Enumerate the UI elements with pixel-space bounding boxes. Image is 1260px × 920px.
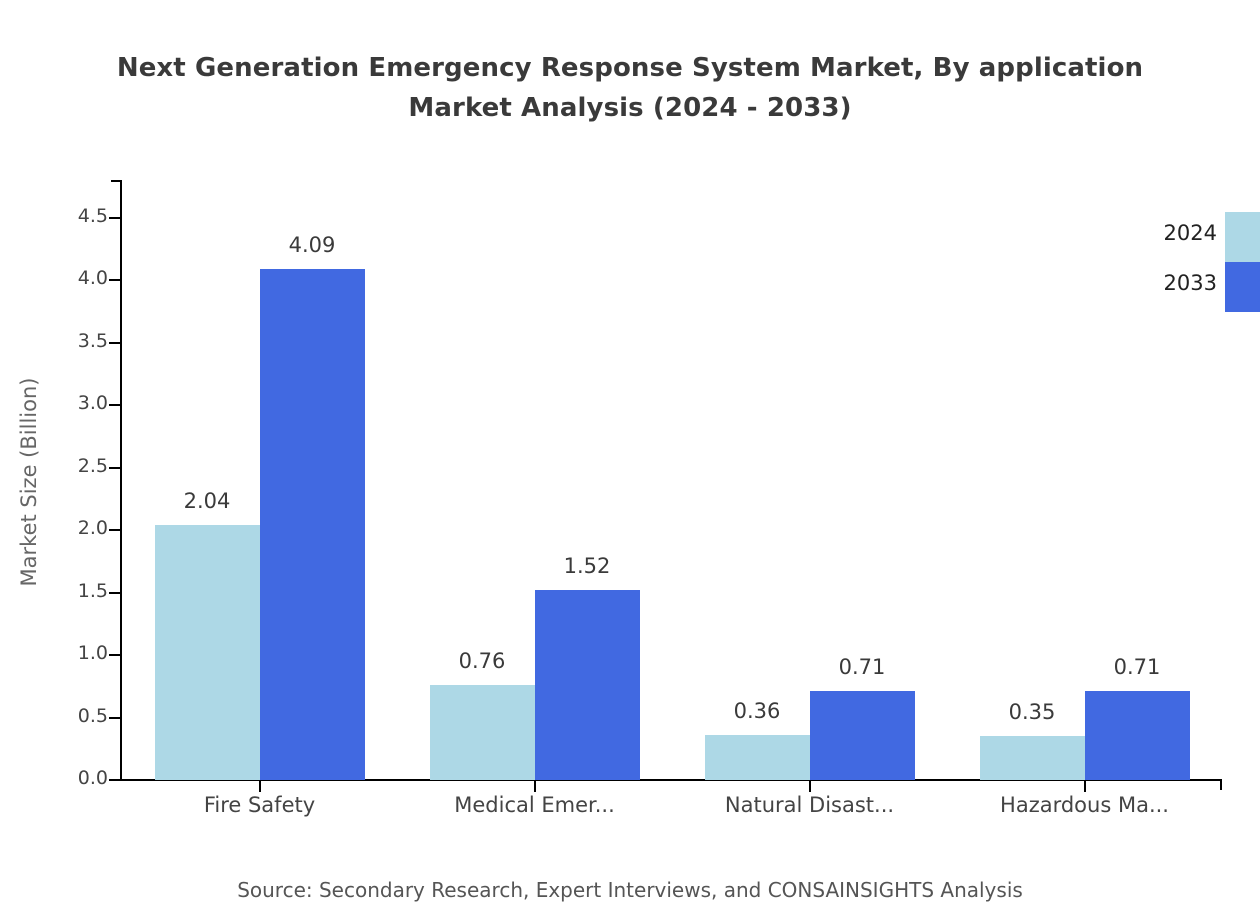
plot-area: 2.044.090.761.520.360.710.350.71 [122,180,1222,780]
y-axis-tick [109,217,120,219]
y-axis-tick [109,779,120,781]
y-axis-top-cap [111,180,122,182]
legend-swatch-2033 [1225,262,1260,312]
bar-2033-1[interactable] [260,269,365,780]
source-note: Source: Secondary Research, Expert Inter… [0,878,1260,902]
x-axis-category-label: Hazardous Ma... [965,793,1205,817]
bar-2033-3[interactable] [810,691,915,780]
y-axis-tick [109,342,120,344]
bar-value-label: 0.36 [687,699,827,723]
legend-label-2024: 2024 [1135,221,1217,245]
x-axis-category-label: Fire Safety [140,793,380,817]
chart-title-line-2: Market Analysis (2024 - 2033) [0,88,1260,128]
bar-2024-2[interactable] [430,685,535,780]
legend-item-2024[interactable]: 2024 [1135,212,1260,262]
legend-label-2033: 2033 [1135,271,1217,295]
bar-value-label: 4.09 [242,233,382,257]
x-axis-tick [534,781,536,792]
y-axis-tick-label: 4.0 [38,267,108,289]
x-axis-tick [1084,781,1086,792]
bar-value-label: 0.71 [792,655,932,679]
chart-title-line-1: Next Generation Emergency Response Syste… [0,48,1260,88]
chart-title: Next Generation Emergency Response Syste… [0,48,1260,128]
y-axis-tick-label: 2.0 [38,517,108,539]
y-axis-tick [109,529,120,531]
x-axis-category-label: Medical Emer... [415,793,655,817]
y-axis-tick-label: 2.5 [38,455,108,477]
y-axis-tick-label: 3.0 [38,392,108,414]
y-axis-tick-label: 0.0 [38,767,108,789]
x-axis-category-label: Natural Disast... [690,793,930,817]
bar-value-label: 2.04 [137,489,277,513]
bar-value-label: 0.71 [1067,655,1207,679]
bar-value-label: 0.35 [962,700,1102,724]
legend-swatch-2024 [1225,212,1260,262]
y-axis-tick-label: 0.5 [38,705,108,727]
chart-legend: 2024 2033 [1135,212,1260,312]
y-axis-tick [109,404,120,406]
x-axis-tick [259,781,261,792]
bar-2033-4[interactable] [1085,691,1190,780]
y-axis-tick-label: 3.5 [38,330,108,352]
bar-value-label: 0.76 [412,649,552,673]
bar-value-label: 1.52 [517,554,657,578]
bar-2024-1[interactable] [155,525,260,780]
y-axis-tick-label: 1.5 [38,580,108,602]
x-axis-tick [809,781,811,792]
bar-chart-figure: Next Generation Emergency Response Syste… [0,0,1260,920]
y-axis-tick [109,592,120,594]
bar-2024-4[interactable] [980,736,1085,780]
bar-2024-3[interactable] [705,735,810,780]
y-axis-title: Market Size (Billion) [17,222,41,742]
y-axis-tick [109,467,120,469]
y-axis-tick-label: 1.0 [38,642,108,664]
y-axis-tick [109,279,120,281]
bar-2033-2[interactable] [535,590,640,780]
y-axis-tick [109,654,120,656]
y-axis-tick [109,717,120,719]
legend-item-2033[interactable]: 2033 [1135,262,1260,312]
y-axis-tick-label: 4.5 [38,205,108,227]
x-axis-right-cap [1220,779,1222,790]
